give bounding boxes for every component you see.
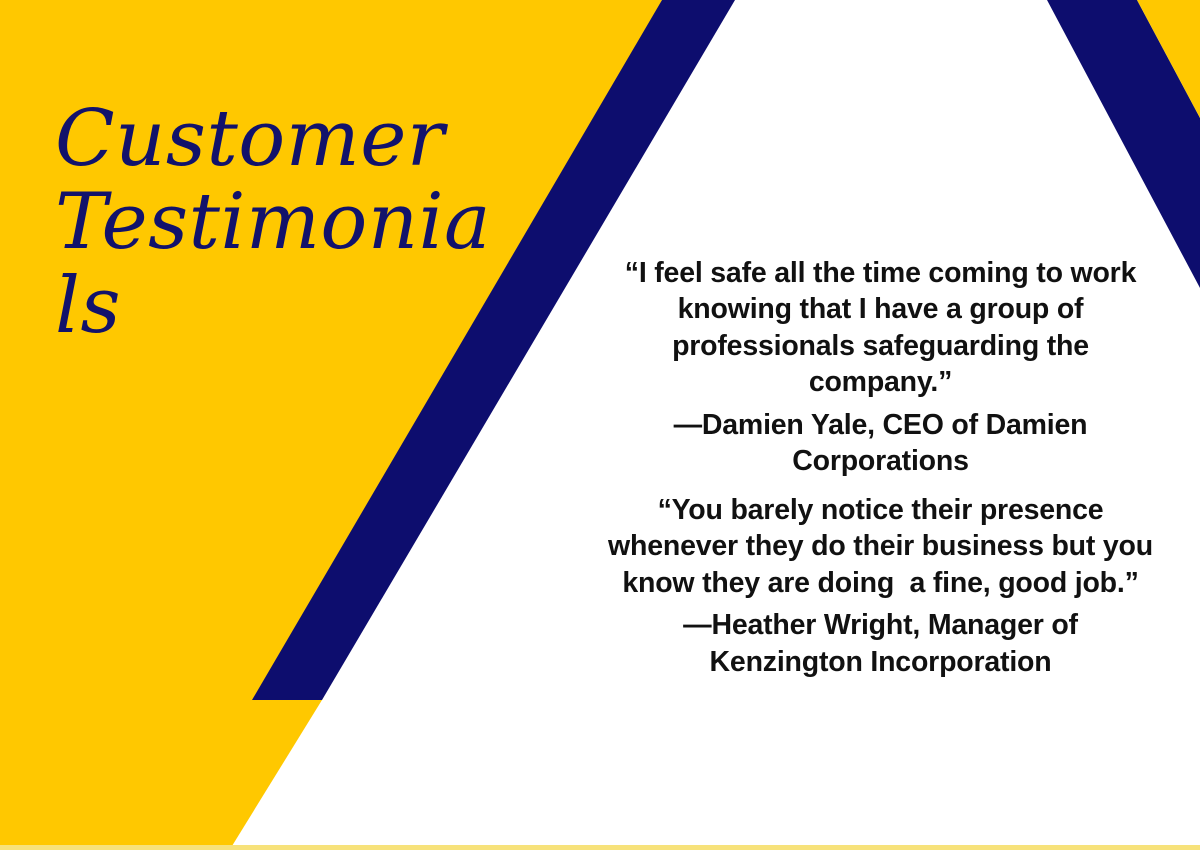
testimonial-item: “I feel safe all the time coming to work… (608, 255, 1153, 480)
page-title: Customer Testimonials (55, 98, 505, 348)
testimonial-quote: “You barely notice their presence whenev… (608, 492, 1153, 601)
testimonial-quote: “I feel safe all the time coming to work… (608, 255, 1153, 401)
testimonial-attribution: —Heather Wright, Manager of Kenzington I… (608, 607, 1153, 680)
testimonial-attribution: —Damien Yale, CEO of Damien Corporations (608, 407, 1153, 480)
testimonial-slide: Customer Testimonials “I feel safe all t… (0, 0, 1200, 850)
bottom-accent-strip (0, 845, 1200, 850)
page-title-text: Customer Testimonials (55, 98, 505, 348)
testimonial-item: “You barely notice their presence whenev… (608, 492, 1153, 680)
testimonial-list: “I feel safe all the time coming to work… (608, 255, 1153, 680)
